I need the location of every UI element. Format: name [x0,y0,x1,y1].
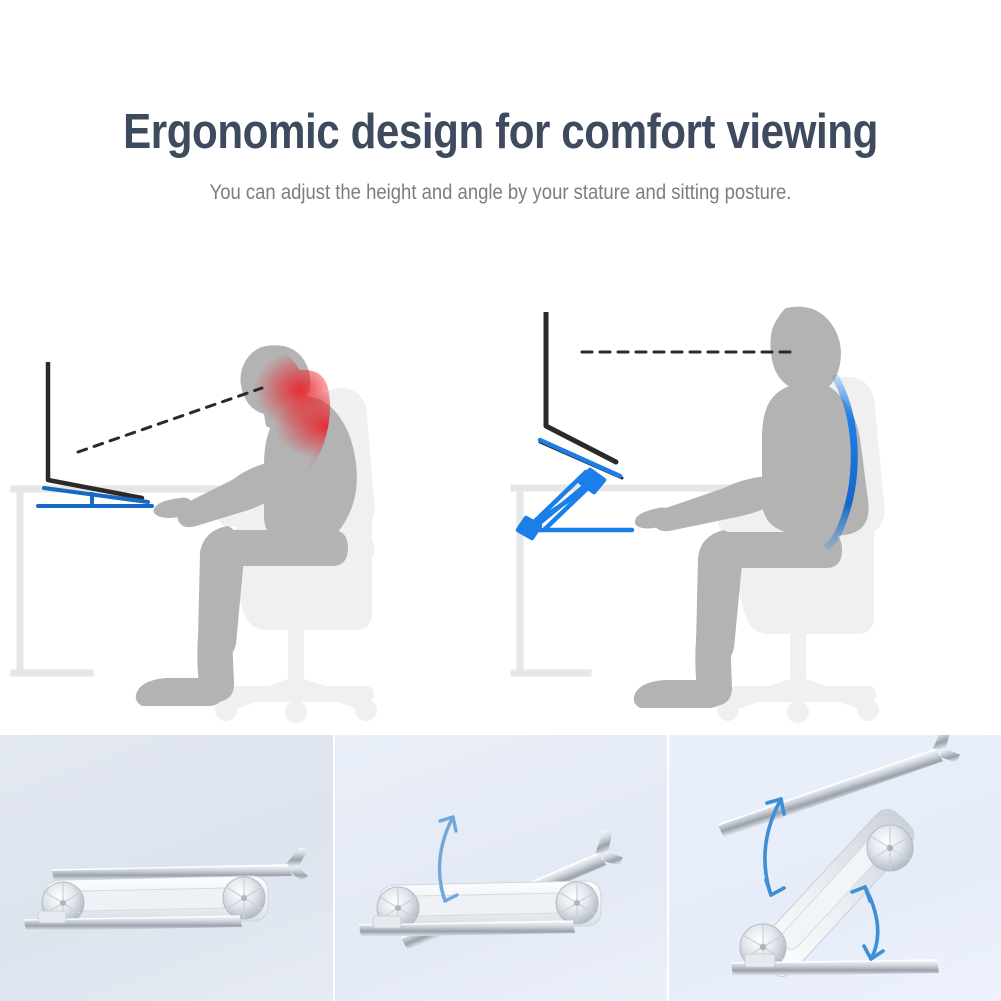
header-section: Ergonomic design for comfort viewing You… [0,0,1001,230]
stand-upper-arm [52,847,308,881]
hinge-hub-right [223,877,265,919]
stand-base-bar [731,954,939,976]
laptop-low-outline [48,362,142,498]
stand-upper-arm-extended [710,735,961,838]
page-title: Ergonomic design for comfort viewing [70,108,931,157]
product-panel-extended [669,735,1001,1001]
product-panel-folded [0,735,333,1001]
page-subtitle: You can adjust the height and angle by y… [60,182,941,203]
good-posture-scene [500,230,1000,735]
hinge-hub-right [556,882,598,924]
product-panel-tilted [335,735,667,1001]
person-silhouette-upright [634,307,869,708]
sight-line-dashed [78,388,262,452]
hinge-hub-top [867,825,913,871]
illustration-band [0,230,1001,735]
laptop-elevated-outline [540,312,622,478]
product-panel-strip [0,735,1001,1001]
bad-posture-scene [0,230,500,735]
